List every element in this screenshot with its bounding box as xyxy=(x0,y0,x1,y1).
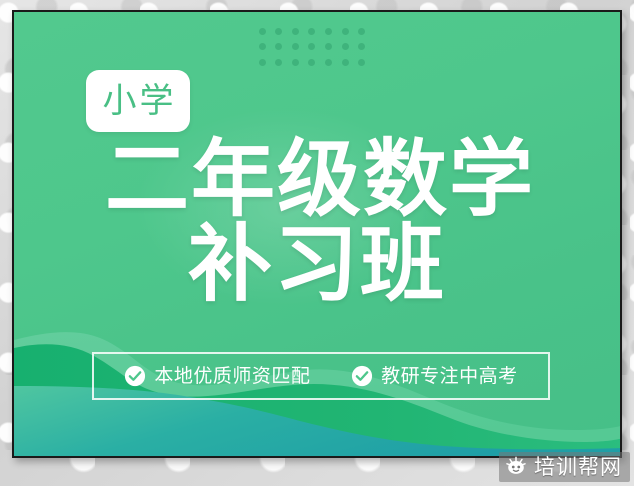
dot-grid-pattern xyxy=(254,24,370,70)
watermark-label: 培训帮网 xyxy=(534,457,622,478)
watermark: 培训帮网 xyxy=(499,452,630,482)
sun-face-icon xyxy=(505,456,527,478)
poster-headline: 二年级数学 补习班 xyxy=(14,138,620,311)
headline-line-1: 二年级数学 xyxy=(14,138,620,220)
dot xyxy=(292,43,299,50)
dot xyxy=(358,59,365,66)
feature-label-2: 教研专注中高考 xyxy=(381,367,518,386)
level-badge-label: 小学 xyxy=(100,84,177,118)
dot xyxy=(259,43,266,50)
dot xyxy=(342,43,349,50)
poster-canvas: 小学 二年级数学 补习班 本地优质师资匹配 教研专注中高考 xyxy=(14,12,620,456)
dot xyxy=(358,43,365,50)
dot xyxy=(292,59,299,66)
feature-label-1: 本地优质师资匹配 xyxy=(154,367,310,386)
check-circle-icon xyxy=(124,365,146,387)
dot xyxy=(308,43,315,50)
dot xyxy=(308,28,315,35)
level-badge: 小学 xyxy=(86,70,190,132)
dot xyxy=(292,28,299,35)
dot xyxy=(259,28,266,35)
poster-frame: 小学 二年级数学 补习班 本地优质师资匹配 教研专注中高考 xyxy=(12,10,622,458)
feature-item-1: 本地优质师资匹配 xyxy=(124,365,310,387)
dot xyxy=(325,28,332,35)
dot xyxy=(342,59,349,66)
dot xyxy=(259,59,266,66)
dot xyxy=(275,43,282,50)
check-circle-icon xyxy=(351,365,373,387)
headline-line-2: 补习班 xyxy=(14,218,620,310)
dot xyxy=(308,59,315,66)
dot xyxy=(358,28,365,35)
feature-box: 本地优质师资匹配 教研专注中高考 xyxy=(92,352,550,400)
dot xyxy=(342,28,349,35)
dot xyxy=(325,43,332,50)
dot xyxy=(325,59,332,66)
dot xyxy=(275,28,282,35)
dot xyxy=(275,59,282,66)
feature-item-2: 教研专注中高考 xyxy=(351,365,518,387)
